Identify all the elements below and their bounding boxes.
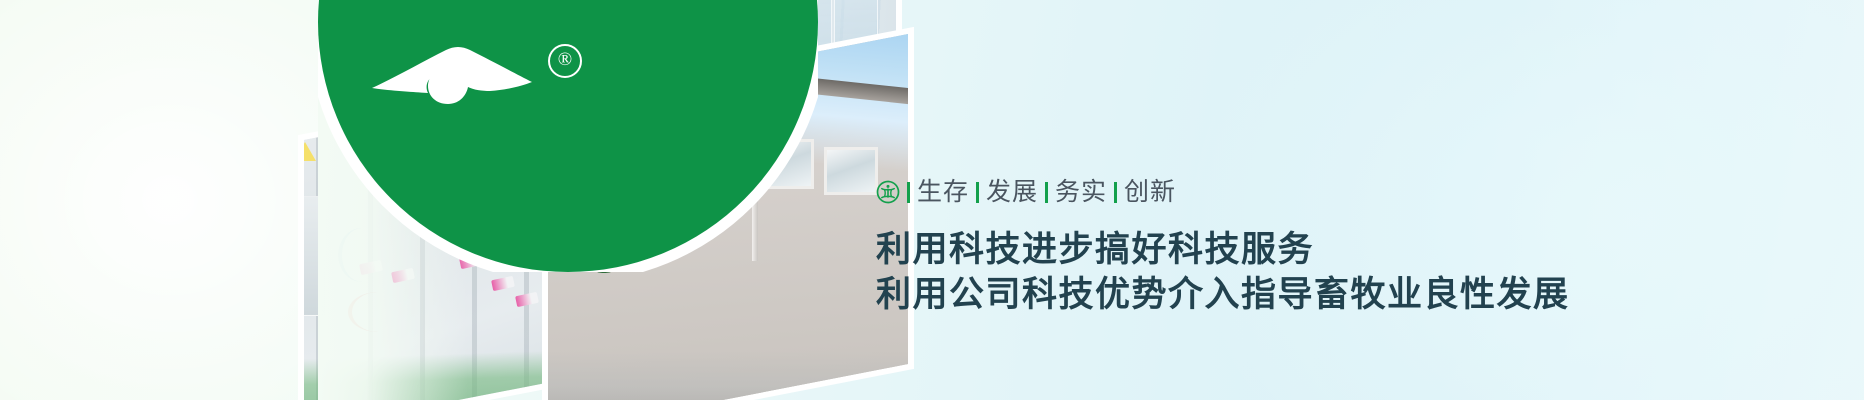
tagline-word-3: 务实 [1055, 180, 1107, 205]
tagline-word-4: 创新 [1124, 180, 1176, 205]
banner-copy: 生存 发展 务实 创新 利用科技进步搞好科技服务 利用公司科技优势介入指导畜牧业… [876, 176, 1696, 318]
tagline-word-2: 发展 [986, 180, 1038, 205]
registered-trademark-icon: ® [548, 44, 582, 78]
tagline: 生存 发展 务实 创新 [876, 176, 1696, 208]
green-circle-figure-icon [876, 180, 900, 204]
tagline-separator [907, 182, 910, 203]
tagline-word-1: 生存 [917, 180, 969, 205]
wave-bird-mark-icon [370, 44, 534, 106]
tagline-separator [1045, 182, 1048, 203]
headline-line-1: 利用科技进步搞好科技服务 [876, 228, 1696, 273]
hero-banner: ® 生存 发展 务实 创新 [0, 0, 1864, 400]
tagline-separator [1114, 182, 1117, 203]
tagline-separator [976, 182, 979, 203]
headline-line-2: 利用公司科技优势介入指导畜牧业良性发展 [876, 273, 1696, 318]
